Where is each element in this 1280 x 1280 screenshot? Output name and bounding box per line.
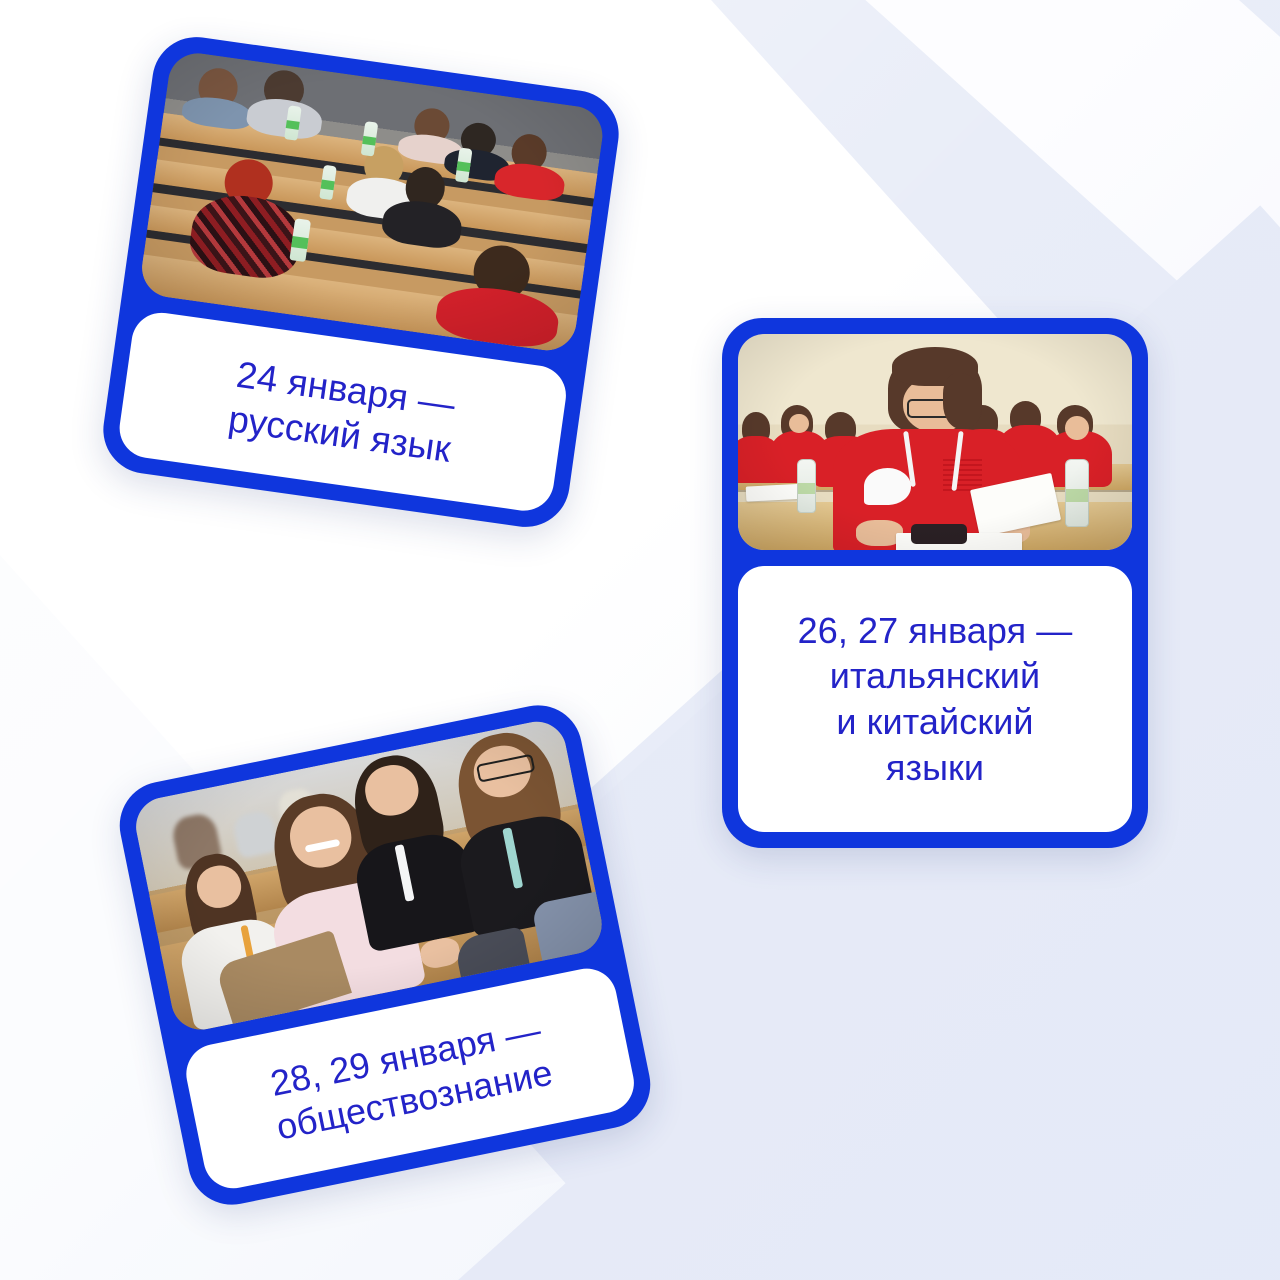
caption-text-russian: 24 января — русский язык (226, 351, 460, 472)
caption-line-4: языки (798, 745, 1073, 791)
schedule-card-russian[interactable]: 24 января — русский язык (98, 31, 625, 532)
card-caption-languages: 26, 27 января — итальянский и китайский … (738, 566, 1132, 832)
schedule-card-social-studies[interactable]: 28, 29 января — обществознание (112, 697, 658, 1212)
caption-line-2: итальянский (798, 653, 1073, 699)
caption-line-3: и китайский (798, 699, 1073, 745)
exam-hall-illustration (738, 334, 1132, 550)
caption-text-languages: 26, 27 января — итальянский и китайский … (798, 608, 1073, 791)
caption-line-1: 26, 27 января — (798, 608, 1073, 654)
card-photo-lecture-hall (138, 50, 606, 355)
caption-text-social-studies: 28, 29 января — обществознание (264, 1007, 556, 1149)
card-photo-exam-hall (738, 334, 1132, 550)
schedule-card-languages[interactable]: 26, 27 января — итальянский и китайский … (722, 318, 1148, 848)
lecture-hall-illustration (138, 50, 606, 355)
